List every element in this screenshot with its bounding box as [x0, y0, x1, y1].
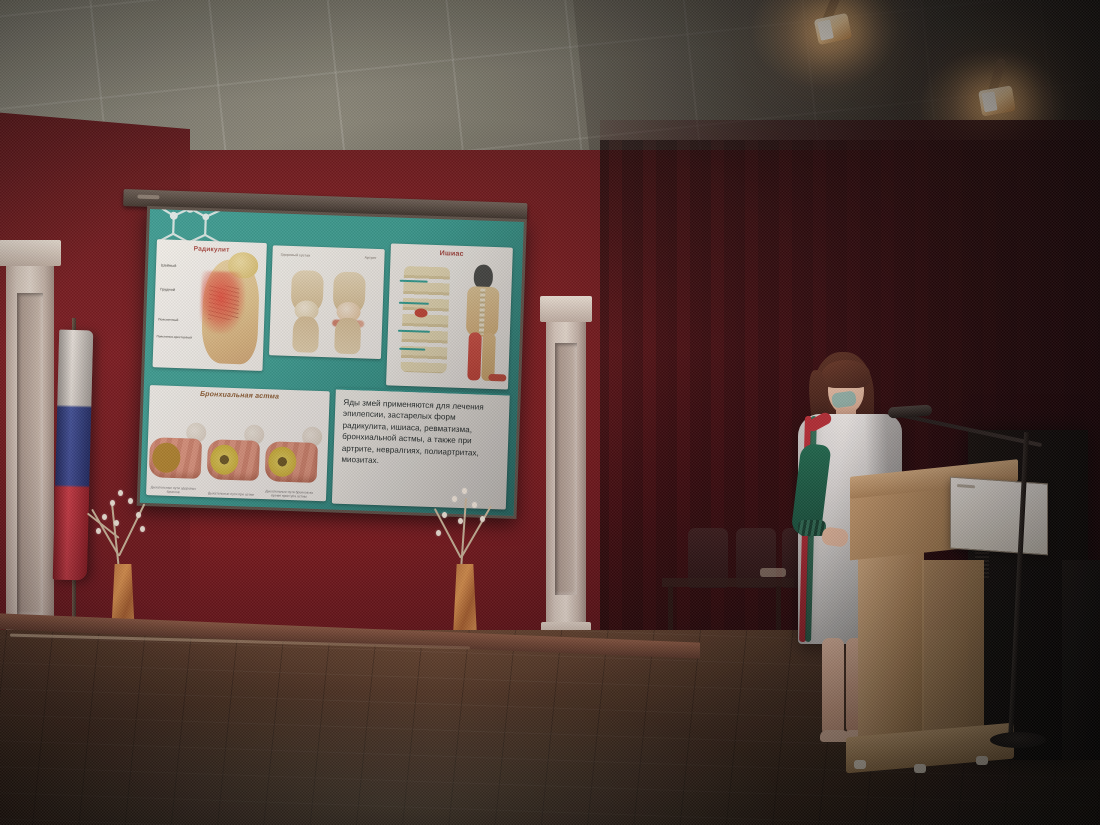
pilaster-center: [546, 318, 586, 626]
presenter-leg-left: [822, 638, 844, 736]
bud: [480, 516, 485, 522]
projection-screen[interactable]: Радикулит Шейный Грудной Поясничный Пояс…: [113, 189, 528, 523]
radiculitis-pain-highlight: [200, 271, 246, 334]
screen-frame: Радикулит Шейный Грудной Поясничный Пояс…: [137, 206, 527, 519]
slide-panel-knee-joint: Здоровый сустав Артрит: [269, 245, 385, 359]
slide-panel-radiculitis: Радикулит Шейный Грудной Поясничный Пояс…: [153, 239, 267, 371]
twig: [460, 498, 467, 570]
podium-foot-right: [976, 756, 988, 765]
bud: [96, 528, 101, 534]
vase-left-branches: [88, 478, 162, 570]
podium-foot-center: [914, 764, 926, 773]
podium-foot-left: [854, 760, 866, 769]
microphone-stand-base: [990, 732, 1046, 748]
knee-arthritic-illustration: [327, 271, 370, 354]
sciatica-figure-head: [473, 264, 493, 289]
bronchus-caption-asthma: Дыхательные пути при астме: [204, 491, 258, 497]
panel-title-asthma: Бронхиальная астма: [149, 389, 329, 402]
presentation-scene-photo: Радикулит Шейный Грудной Поясничный Пояс…: [0, 0, 1100, 825]
bud: [114, 520, 119, 526]
radiculitis-label-1: Грудной: [160, 287, 175, 292]
sciatica-nerve-detail: [488, 374, 506, 382]
slide-panel-sciatica: Ишиас: [386, 243, 513, 389]
pilaster-center-cornice: [540, 296, 591, 322]
pilaster-center-panel: [555, 343, 577, 596]
knee-label-arthritis: Артрит: [364, 255, 376, 259]
presentation-slide: Радикулит Шейный Грудной Поясничный Пояс…: [140, 209, 524, 516]
bronchus-asthma: [207, 431, 261, 481]
podium-column-right: [922, 560, 984, 746]
sciatica-body-figure: [460, 264, 504, 381]
av-equipment-secondary: [1062, 560, 1100, 760]
pilaster-left-cornice: [0, 240, 61, 266]
bud: [436, 530, 441, 536]
bud: [110, 500, 115, 506]
presenter-hair-front: [822, 360, 870, 388]
bud: [462, 488, 467, 494]
pilaster-left-panel: [17, 293, 44, 614]
bud: [442, 512, 447, 518]
bud: [140, 526, 145, 532]
slide-panel-asthma: Бронхиальная астма: [146, 385, 330, 501]
podium-white-panel: [950, 477, 1048, 556]
bud: [102, 514, 107, 520]
knee-healthy-illustration: [285, 270, 328, 353]
background-table: [662, 578, 794, 587]
bud: [136, 512, 141, 518]
bronchus-attack: [265, 433, 319, 483]
knee-healthy-tibia: [292, 316, 319, 353]
bud: [452, 496, 457, 502]
bud: [128, 498, 133, 504]
vase-right-branches: [430, 478, 504, 570]
radiculitis-label-2: Поясничный: [158, 317, 178, 322]
sciatica-figure-affected-leg: [467, 332, 482, 380]
bud: [118, 490, 123, 496]
radiculitis-label-0: Шейный: [161, 263, 176, 268]
bronchus-healthy: [149, 429, 203, 479]
podium-column-left: [858, 548, 924, 744]
bud: [458, 518, 463, 524]
panel-title-sciatica: Ишиас: [391, 248, 513, 259]
knee-label-healthy: Здоровый сустав: [280, 253, 310, 258]
bronchus-caption-attack: Дыхательные пути бронхов во время присту…: [262, 489, 316, 499]
bud: [472, 502, 477, 508]
slide-body-text: Яды змей применяются для лечения эпилепс…: [341, 397, 501, 471]
pilaster-left: [6, 262, 54, 654]
knee-arthritic-tibia: [334, 318, 361, 355]
radiculitis-label-3: Пояснично-крестцовый: [157, 335, 193, 340]
